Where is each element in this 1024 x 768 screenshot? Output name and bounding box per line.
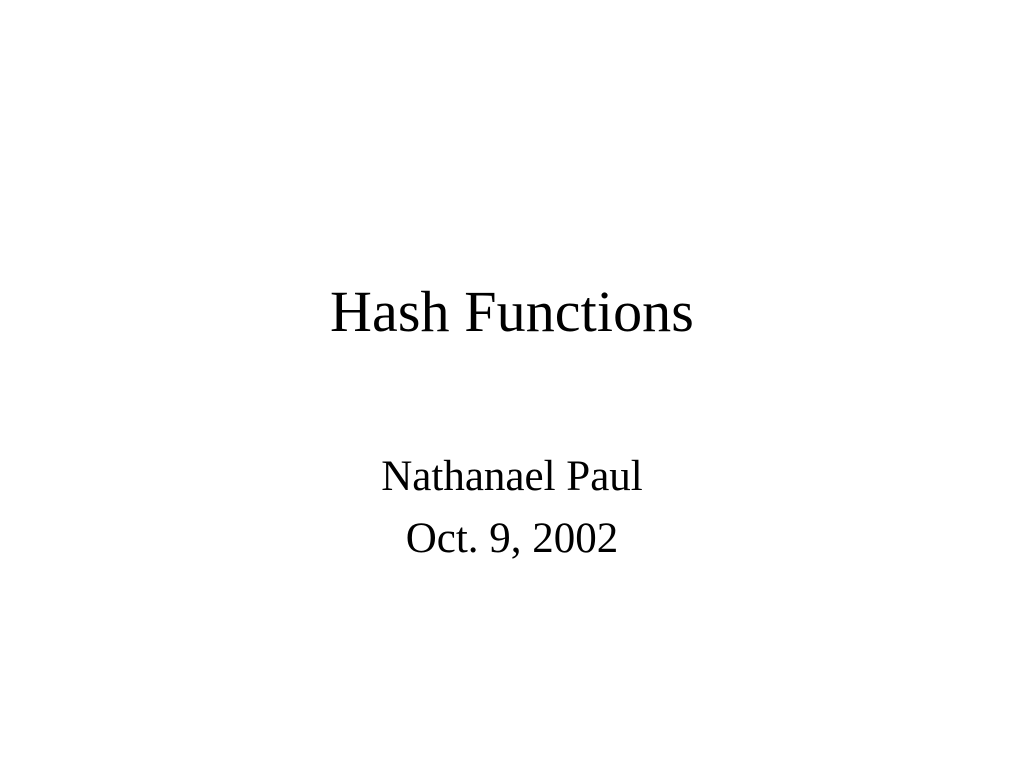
presentation-slide: Hash Functions Nathanael Paul Oct. 9, 20… bbox=[0, 0, 1024, 768]
author-name: Nathanael Paul bbox=[0, 446, 1024, 508]
page-title: Hash Functions bbox=[0, 281, 1024, 344]
title-placeholder: Hash Functions bbox=[0, 281, 1024, 344]
presentation-date: Oct. 9, 2002 bbox=[0, 508, 1024, 570]
subtitle-placeholder: Nathanael Paul Oct. 9, 2002 bbox=[0, 446, 1024, 570]
